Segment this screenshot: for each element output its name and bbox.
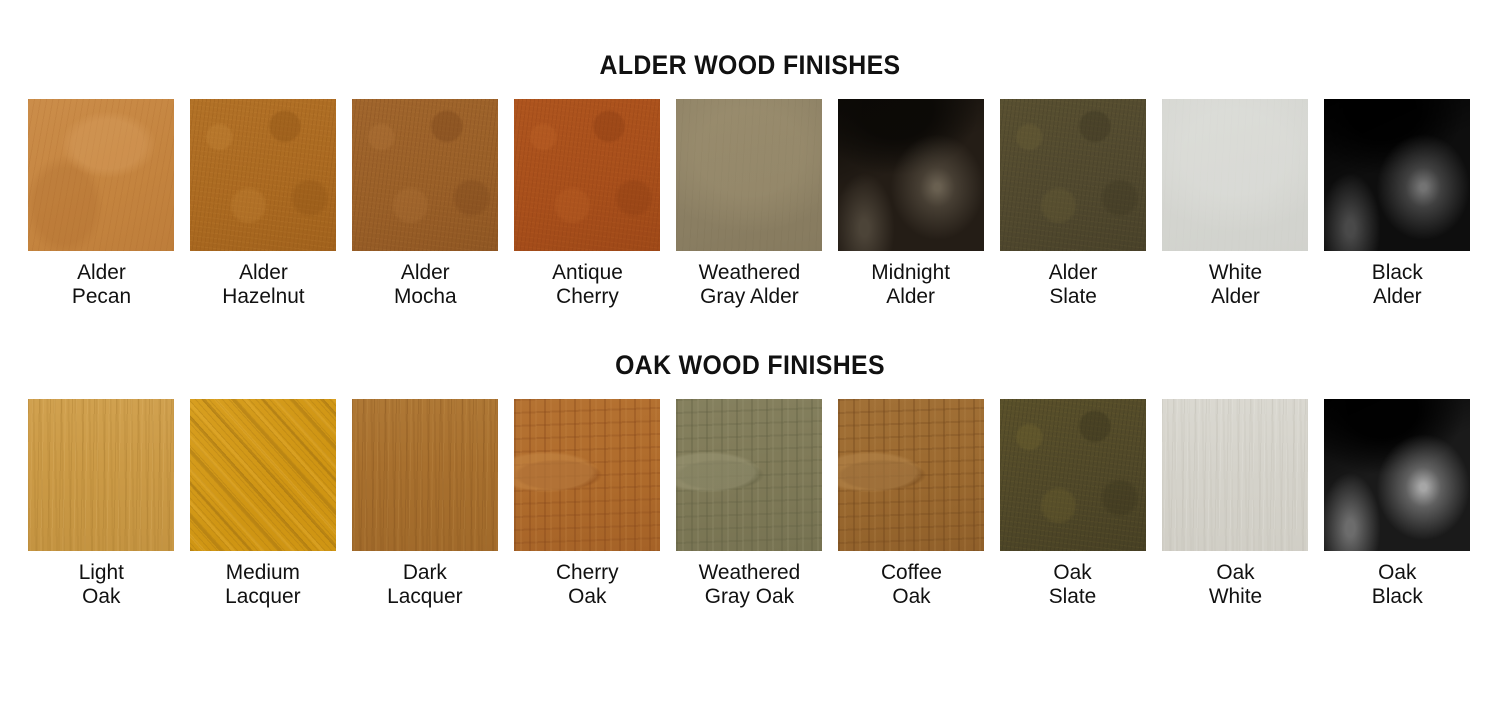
finish-color-swatch[interactable]: [190, 99, 336, 251]
finish-swatch-cell[interactable]: Medium Lacquer: [190, 399, 336, 608]
wood-grain-texture: [838, 99, 984, 251]
wood-grain-texture: [1000, 99, 1146, 251]
finish-color-swatch[interactable]: [1324, 399, 1470, 551]
finish-name-label: Weathered Gray Oak: [698, 560, 800, 608]
finish-name-label: Alder Mocha: [394, 260, 457, 308]
finish-swatch-cell[interactable]: Light Oak: [28, 399, 174, 608]
finish-swatch-cell[interactable]: Black Alder: [1324, 99, 1470, 308]
finish-color-swatch[interactable]: [1000, 399, 1146, 551]
wood-grain-texture: [28, 99, 174, 251]
finish-swatch-cell[interactable]: Weathered Gray Oak: [676, 399, 822, 608]
finish-color-swatch[interactable]: [676, 99, 822, 251]
top-spacer: [0, 0, 1500, 52]
finish-color-swatch[interactable]: [1162, 399, 1308, 551]
finish-swatch-cell[interactable]: Midnight Alder: [838, 99, 984, 308]
alder-title-spacer: [0, 79, 1500, 99]
finish-color-swatch[interactable]: [190, 399, 336, 551]
oak-swatch-row: Light OakMedium LacquerDark LacquerCherr…: [0, 399, 1500, 608]
finish-name-label: Dark Lacquer: [387, 560, 462, 608]
wood-grain-texture: [514, 99, 660, 251]
finish-name-label: Cherry Oak: [556, 560, 619, 608]
finish-name-label: Oak White: [1208, 560, 1261, 608]
wood-grain-texture: [838, 399, 984, 551]
finish-color-swatch[interactable]: [838, 99, 984, 251]
finish-swatch-cell[interactable]: Oak Slate: [1000, 399, 1146, 608]
wood-grain-texture: [514, 399, 660, 551]
finish-swatch-cell[interactable]: Alder Mocha: [352, 99, 498, 308]
oak-title-spacer: [0, 379, 1500, 399]
finish-name-label: Medium Lacquer: [225, 560, 300, 608]
finish-color-swatch[interactable]: [514, 399, 660, 551]
finish-swatch-cell[interactable]: Oak Black: [1324, 399, 1470, 608]
wood-grain-texture: [1000, 399, 1146, 551]
finish-color-swatch[interactable]: [28, 399, 174, 551]
finish-name-label: Black Alder: [1371, 260, 1422, 308]
finish-color-swatch[interactable]: [1162, 99, 1308, 251]
finish-swatch-cell[interactable]: White Alder: [1162, 99, 1308, 308]
finish-color-swatch[interactable]: [352, 99, 498, 251]
finish-color-swatch[interactable]: [514, 99, 660, 251]
finish-swatch-cell[interactable]: Cherry Oak: [514, 399, 660, 608]
finish-swatch-cell[interactable]: Oak White: [1162, 399, 1308, 608]
finish-color-swatch[interactable]: [352, 399, 498, 551]
finish-name-label: Alder Pecan: [71, 260, 130, 308]
wood-grain-texture: [190, 399, 336, 551]
alder-section-header: ALDER WOOD FINISHES: [0, 52, 1500, 79]
between-sections-spacer: [0, 308, 1500, 352]
alder-swatch-row: Alder PecanAlder HazelnutAlder MochaAnti…: [0, 99, 1500, 308]
alder-section-title: ALDER WOOD FINISHES: [60, 52, 1440, 79]
finish-color-swatch[interactable]: [28, 99, 174, 251]
finish-swatch-cell[interactable]: Weathered Gray Alder: [676, 99, 822, 308]
oak-section-title: OAK WOOD FINISHES: [60, 352, 1440, 379]
finish-swatch-cell[interactable]: Coffee Oak: [838, 399, 984, 608]
finish-name-label: Alder Hazelnut: [222, 260, 304, 308]
finish-swatch-cell[interactable]: Antique Cherry: [514, 99, 660, 308]
wood-grain-texture: [352, 99, 498, 251]
finish-name-label: Oak Slate: [1049, 560, 1097, 608]
finish-color-swatch[interactable]: [1000, 99, 1146, 251]
finish-name-label: Weathered Gray Alder: [698, 260, 800, 308]
wood-grain-texture: [676, 399, 822, 551]
finish-swatch-cell[interactable]: Alder Pecan: [28, 99, 174, 308]
finish-color-swatch[interactable]: [838, 399, 984, 551]
finish-name-label: Antique Cherry: [552, 260, 623, 308]
finish-name-label: Light Oak: [78, 560, 123, 608]
finish-name-label: Coffee Oak: [880, 560, 941, 608]
wood-grain-texture: [190, 99, 336, 251]
wood-grain-texture: [676, 99, 822, 251]
wood-grain-texture: [1162, 99, 1308, 251]
finish-name-label: White Alder: [1208, 260, 1261, 308]
finish-color-swatch[interactable]: [1324, 99, 1470, 251]
finish-swatch-cell[interactable]: Alder Hazelnut: [190, 99, 336, 308]
wood-finish-chart: ALDER WOOD FINISHES Alder PecanAlder Haz…: [0, 0, 1500, 725]
finish-color-swatch[interactable]: [676, 399, 822, 551]
oak-section-header: OAK WOOD FINISHES: [0, 352, 1500, 379]
wood-grain-texture: [1324, 399, 1470, 551]
finish-name-label: Midnight Alder: [872, 260, 951, 308]
wood-grain-texture: [1162, 399, 1308, 551]
finish-swatch-cell[interactable]: Dark Lacquer: [352, 399, 498, 608]
wood-grain-texture: [28, 399, 174, 551]
finish-name-label: Alder Slate: [1049, 260, 1098, 308]
wood-grain-texture: [352, 399, 498, 551]
finish-name-label: Oak Black: [1371, 560, 1422, 608]
finish-swatch-cell[interactable]: Alder Slate: [1000, 99, 1146, 308]
wood-grain-texture: [1324, 99, 1470, 251]
